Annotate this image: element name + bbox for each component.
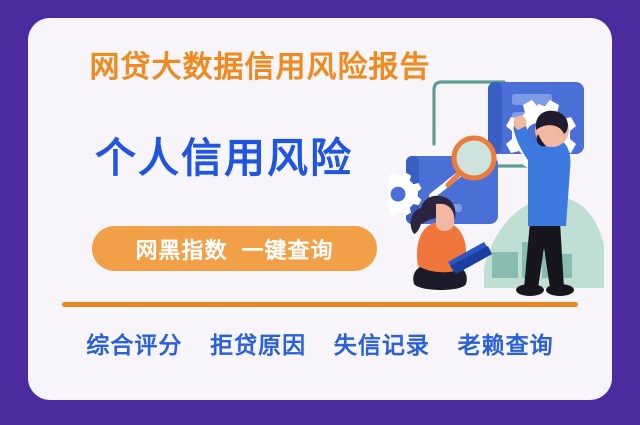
banner-card: 网贷大数据信用风险报告 个人信用风险 网黑指数 一键查询 综合评分 拒贷原因 失… bbox=[28, 18, 612, 400]
feature-item-score[interactable]: 综合评分 bbox=[86, 332, 182, 358]
feature-list: 综合评分 拒贷原因 失信记录 老赖查询 bbox=[56, 326, 584, 360]
feature-item-dishonesty-record[interactable]: 失信记录 bbox=[334, 332, 430, 358]
cta-right-label: 一键查询 bbox=[242, 233, 334, 265]
feature-item-rejection-reason[interactable]: 拒贷原因 bbox=[210, 332, 306, 358]
query-cta-button[interactable]: 网黑指数 一键查询 bbox=[92, 226, 377, 271]
feature-item-laolai-query[interactable]: 老赖查询 bbox=[458, 332, 554, 358]
banner-headline: 个人信用风险 bbox=[40, 124, 408, 184]
cta-left-label: 网黑指数 bbox=[135, 233, 227, 265]
illustration bbox=[388, 38, 612, 328]
banner-image: 网贷大数据信用风险报告 个人信用风险 网黑指数 一键查询 综合评分 拒贷原因 失… bbox=[0, 0, 640, 425]
